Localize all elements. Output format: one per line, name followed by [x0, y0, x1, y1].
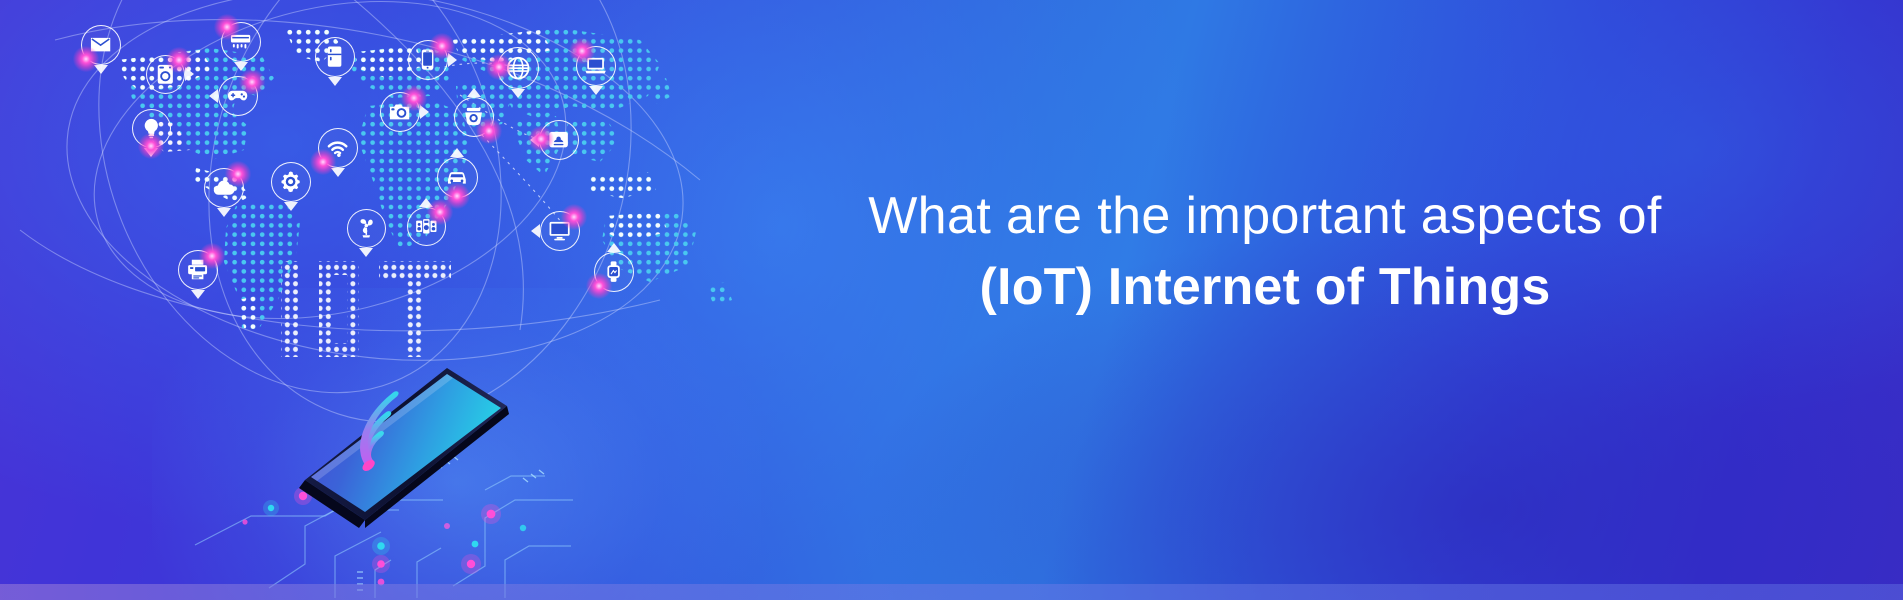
icon-node-wifi-router[interactable] — [318, 128, 358, 168]
node-pointer — [450, 148, 464, 157]
laptop-icon — [576, 46, 616, 86]
smartwatch-icon — [594, 252, 634, 292]
fan-icon — [347, 209, 386, 248]
icon-node-printer[interactable] — [178, 250, 218, 290]
node-pointer — [217, 208, 231, 217]
iot-wordmark — [275, 255, 475, 365]
headline-line-1: What are the important aspects of — [700, 184, 1830, 249]
node-pointer — [419, 198, 433, 207]
node-pointer — [531, 224, 540, 238]
icon-node-washing-machine[interactable] — [146, 55, 185, 94]
car-icon — [437, 157, 478, 198]
stereo-speaker-icon — [407, 207, 446, 246]
node-pointer — [420, 105, 429, 119]
globe-icon — [497, 47, 539, 89]
headline-line-2: (IoT) Internet of Things — [700, 255, 1830, 320]
headline: What are the important aspects of (IoT) … — [700, 184, 1830, 320]
icon-node-monitor[interactable] — [540, 211, 580, 251]
icon-node-gear[interactable] — [271, 162, 311, 202]
node-pointer — [234, 62, 248, 71]
cloud-icon — [204, 168, 244, 208]
icon-node-cloud[interactable] — [204, 168, 244, 208]
smart-scale-icon — [539, 120, 579, 160]
icon-node-lightbulb[interactable] — [132, 109, 171, 148]
printer-icon — [178, 250, 218, 290]
icon-node-car[interactable] — [437, 157, 478, 198]
lightbulb-icon — [132, 109, 171, 148]
gamepad-icon — [218, 76, 258, 116]
bottom-accent-band — [0, 584, 1903, 600]
icon-node-mail[interactable] — [81, 25, 121, 65]
gear-icon — [271, 162, 311, 202]
refrigerator-icon — [315, 37, 355, 77]
icon-node-gamepad[interactable] — [218, 76, 258, 116]
iot-banner: What are the important aspects of (IoT) … — [0, 0, 1903, 600]
icon-node-smartwatch[interactable] — [594, 252, 634, 292]
washing-machine-icon — [146, 55, 185, 94]
cctv-camera-icon — [454, 97, 494, 137]
air-conditioner-icon — [221, 22, 261, 62]
monitor-icon — [540, 211, 580, 251]
icon-node-cctv-camera[interactable] — [454, 97, 494, 137]
node-pointer — [284, 202, 298, 211]
node-pointer — [448, 53, 457, 67]
wifi-router-icon — [318, 128, 358, 168]
node-pointer — [94, 65, 108, 74]
node-pointer — [209, 89, 218, 103]
icon-node-smart-scale[interactable] — [539, 120, 579, 160]
node-pointer — [530, 133, 539, 147]
node-pointer — [144, 148, 158, 157]
node-pointer — [511, 89, 525, 98]
icon-node-air-conditioner[interactable] — [221, 22, 261, 62]
node-pointer — [191, 290, 205, 299]
icon-node-globe[interactable] — [497, 47, 539, 89]
node-pointer — [607, 243, 621, 252]
node-pointer — [331, 168, 345, 177]
icon-node-camera[interactable] — [380, 92, 420, 132]
node-pointer — [467, 88, 481, 97]
smartphone-icon — [408, 40, 448, 80]
node-pointer — [589, 86, 603, 95]
node-pointer — [359, 248, 373, 257]
icon-node-stereo-speaker[interactable] — [407, 207, 446, 246]
icon-node-fan[interactable] — [347, 209, 386, 248]
mail-icon — [81, 25, 121, 65]
node-pointer — [185, 67, 194, 81]
icon-node-smartphone[interactable] — [408, 40, 448, 80]
smartphone-illustration — [185, 350, 575, 600]
camera-icon — [380, 92, 420, 132]
icon-node-laptop[interactable] — [576, 46, 616, 86]
icon-node-refrigerator[interactable] — [315, 37, 355, 77]
node-pointer — [328, 77, 342, 86]
